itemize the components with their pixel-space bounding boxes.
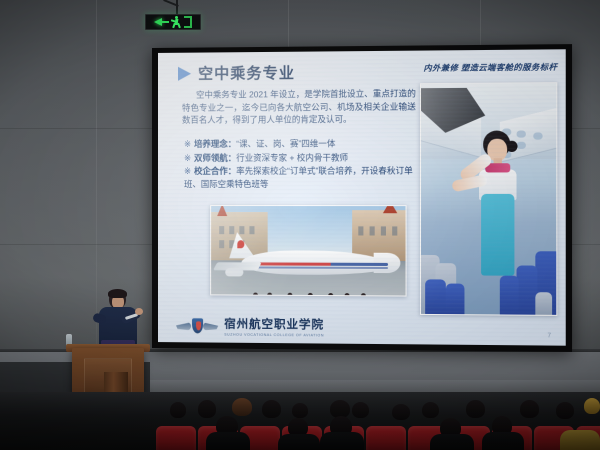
winged-shield-emblem-icon — [176, 317, 218, 334]
slide-bullet-list: ※培养理念：“课、证、岗、赛”四维一体 ※双师领航：行业资深专家 + 校内骨干教… — [184, 136, 424, 190]
list-item: ※校企合作：率先探索校企“订单式”联合培养，开设春秋订单班、国际空乘特色班等 — [184, 164, 424, 190]
bullet-label: 培养理念： — [194, 139, 236, 149]
slide-body-paragraph: 空中乘务专业 2021 年设立，是学院首批设立、重点打造的特色专业之一，迄今已向… — [182, 87, 416, 126]
audience-area — [0, 392, 600, 450]
list-item: ※培养理念：“课、证、岗、赛”四维一体 — [184, 136, 424, 151]
bullet-label: 双师领航： — [194, 153, 236, 163]
presenter-figure — [95, 290, 143, 352]
body-paragraph-text: 空中乘务专业 2021 年设立，是学院首批设立、重点打造的特色专业之一，迄今已向… — [182, 88, 416, 125]
emergency-exit-sign — [145, 14, 201, 30]
arrow-shaft-icon — [162, 21, 169, 23]
college-logo: 宿州航空职业学院 SUZHOU VOCATIONAL COLLEGE OF AV… — [176, 315, 324, 337]
presentation-slide: 空中乘务专业 内外兼修 塑造云端客舱的服务标杆 空中乘务专业 2021 年设立，… — [158, 49, 566, 345]
bullet-text: 行业资深专家 + 校内骨干教师 — [236, 152, 348, 162]
bullet-marker-icon: ※ — [184, 139, 191, 149]
running-man-icon — [171, 16, 182, 28]
bullet-marker-icon: ※ — [184, 153, 191, 163]
slide-banner-headline: 内外兼修 塑造云端客舱的服务标杆 — [423, 62, 557, 74]
bullet-marker-icon: ※ — [184, 166, 191, 176]
slide-title-row: 空中乘务专业 — [178, 62, 295, 84]
slide-page-number: 7 — [548, 333, 552, 339]
left-arrow-icon — [154, 18, 162, 26]
lecture-hall-scene: 空中乘务专业 内外兼修 塑造云端客舱的服务标杆 空中乘务专业 2021 年设立，… — [0, 0, 600, 450]
exit-door-icon — [184, 16, 192, 28]
college-name-cn: 宿州航空职业学院 — [224, 316, 324, 333]
slide-title: 空中乘务专业 — [198, 62, 295, 84]
bullet-text: “课、证、岗、赛”四维一体 — [236, 138, 335, 148]
projection-screen: 空中乘务专业 内外兼修 塑造云端客舱的服务标杆 空中乘务专业 2021 年设立，… — [152, 44, 572, 352]
play-triangle-icon — [178, 66, 191, 80]
college-name-en: SUZHOU VOCATIONAL COLLEGE OF AVIATION — [224, 333, 324, 338]
flight-attendant-figure — [467, 130, 527, 315]
flight-attendant-cabin-photo — [420, 82, 557, 316]
crew-and-aircraft-photo — [210, 205, 406, 297]
bullet-label: 校企合作： — [194, 166, 236, 176]
list-item: ※双师领航：行业资深专家 + 校内骨干教师 — [184, 150, 424, 165]
